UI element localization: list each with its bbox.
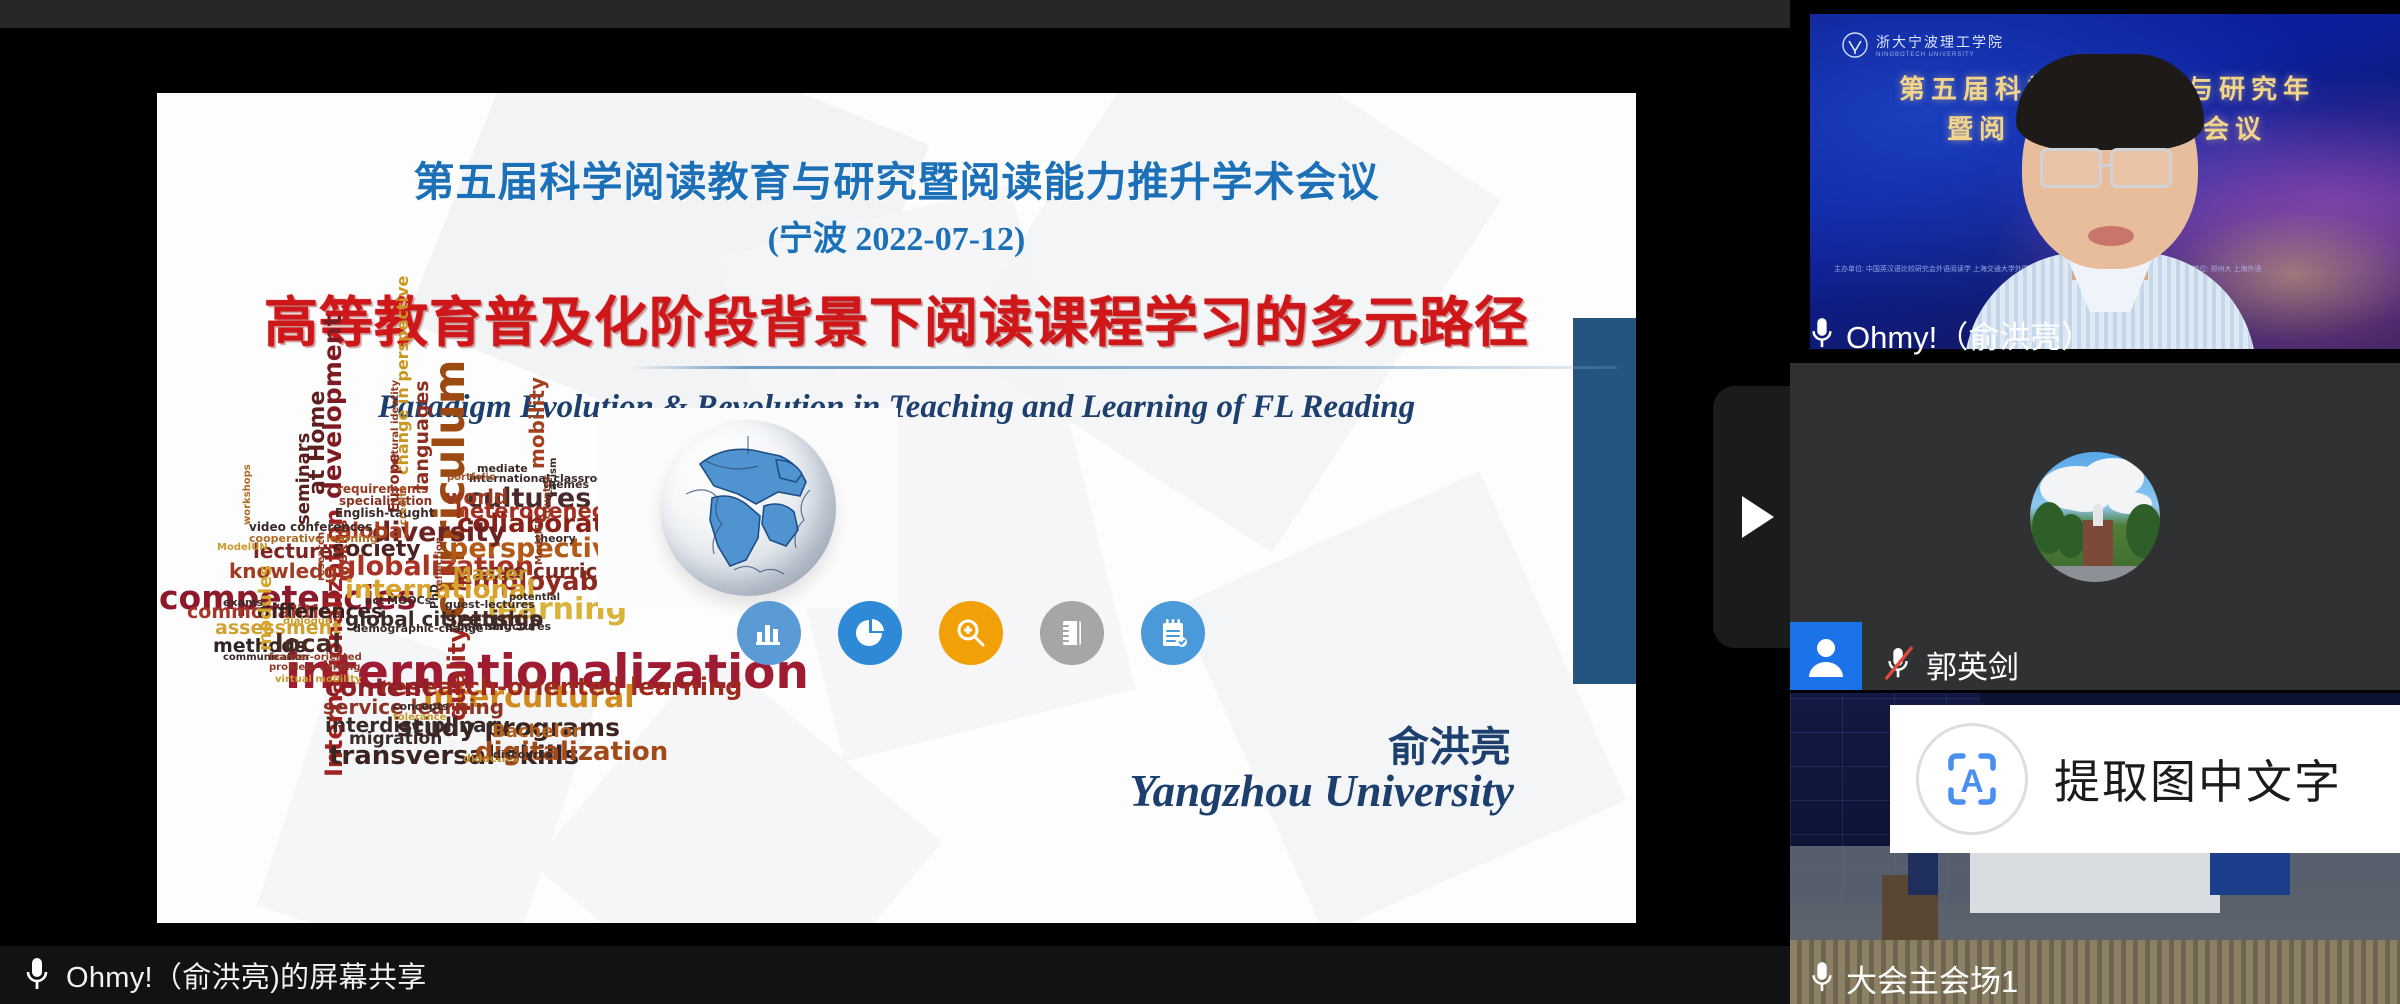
notebook-icon [1040, 601, 1104, 665]
conference-subtitle: (宁波 2022-07-12) [157, 211, 1636, 260]
word-cloud-term: ModelUN [217, 543, 268, 553]
word-cloud-term: workshops [243, 464, 253, 525]
word-cloud-term: dialogue [283, 617, 332, 627]
participant-name: 郭英剑 [1926, 642, 2019, 687]
word-cloud-term: concepts [393, 701, 449, 712]
word-cloud-term: act [365, 595, 384, 606]
word-cloud-term: tolerance [393, 713, 446, 723]
webcam-feed: 浙大宁波理工学院 NINGBOTECH UNIVERSITY 第五届科学 教学与… [1810, 14, 2400, 349]
microphone-icon [1808, 314, 1836, 354]
slide-icon-row [737, 601, 1257, 681]
word-cloud-term: potential [509, 593, 560, 603]
word-cloud-term: migration [349, 731, 442, 748]
slide-accent-bar [1573, 318, 1636, 684]
speaker-figure [1960, 54, 2260, 349]
screen-share-label: Ohmy!（俞洪亮)的屏幕共享 [66, 954, 427, 996]
word-cloud-term: research [317, 532, 327, 581]
word-cloud-term: requirements [337, 483, 428, 495]
word-cloud-term: knowledge [229, 561, 351, 581]
panel-expand-handle[interactable] [1713, 386, 1799, 648]
participant-name: 大会主会场1 [1846, 956, 2018, 1001]
ocr-extract-text-toast[interactable]: A 提取图中文字 [1890, 705, 2400, 853]
word-cloud-term: structures [487, 621, 551, 632]
svg-text:A: A [1960, 763, 1983, 799]
word-cloud-term: Bachelor [492, 723, 581, 741]
magnify-plus-icon [939, 601, 1003, 665]
avatar [2030, 452, 2160, 582]
slide-main-title: 高等教育普及化阶段背景下阅读课程学习的多元路径 [157, 278, 1636, 357]
word-cloud-term: languages [413, 380, 432, 491]
word-cloud-term: counter [543, 475, 553, 519]
microphone-muted-icon [1882, 644, 1916, 684]
ocr-scan-icon: A [1916, 723, 2028, 835]
participant-name-bar: Ohmy!（俞洪亮） [1790, 308, 2400, 360]
word-cloud-term: seminars [295, 433, 313, 525]
globe-puzzle-icon [660, 420, 836, 596]
ocr-toast-label: 提取图中文字 [2054, 746, 2342, 812]
globe-image-frame [598, 408, 898, 608]
conference-title: 第五届科学阅读教育与研究暨阅读能力推升学术会议 [157, 148, 1636, 208]
word-cloud-term: cultural identity [391, 380, 401, 471]
university-logo-text: 浙大宁波理工学院 [1876, 36, 2004, 51]
meeting-window: 第五届科学阅读教育与研究暨阅读能力推升学术会议 (宁波 2022-07-12) … [0, 0, 2400, 1004]
participant-name: Ohmy!（俞洪亮） [1846, 312, 2092, 357]
word-cloud-term: credits [399, 486, 409, 525]
title-divider-rule [629, 366, 1617, 369]
presentation-slide[interactable]: 第五届科学阅读教育与研究暨阅读能力推升学术会议 (宁波 2022-07-12) … [157, 93, 1636, 923]
participant-tile-avatar[interactable]: 郭英剑 [1790, 360, 2400, 690]
participant-name-bar: 大会主会场1 [1790, 952, 2400, 1004]
university-crest-icon [1842, 32, 1868, 58]
word-cloud-term: portfolio [447, 473, 496, 483]
word-cloud-term: cooperative learning [249, 533, 378, 544]
participant-tile-room[interactable]: A 提取图中文字 大会主会场1 [1790, 690, 2400, 1004]
screen-share-status-bar: Ohmy!（俞洪亮)的屏幕共享 [0, 946, 1790, 1004]
word-cloud-term: world [445, 487, 508, 507]
participant-tile-speaker[interactable]: 浙大宁波理工学院 NINGBOTECH UNIVERSITY 第五届科学 教学与… [1790, 0, 2400, 360]
checklist-icon [1141, 601, 1205, 665]
word-cloud-term: discourse [493, 749, 553, 760]
word-cloud-term: problem-solving [269, 663, 360, 673]
word-cloud-image: internationalizationcompetenciescurricul… [157, 413, 627, 903]
shared-screen-stage: 第五届科学阅读教育与研究暨阅读能力推升学术会议 (宁波 2022-07-12) … [0, 28, 1790, 946]
word-cloud-term: English-taught [335, 507, 434, 519]
word-cloud-term: exams [223, 597, 263, 608]
pie-chart-icon [838, 601, 902, 665]
participant-rail: 浙大宁波理工学院 NINGBOTECH UNIVERSITY 第五届科学 教学与… [1790, 0, 2400, 1004]
microphone-icon [1808, 958, 1836, 998]
play-triangle-icon [1734, 492, 1778, 542]
participant-name-bar: 郭英剑 [1790, 638, 2400, 690]
bar-chart-icon [737, 601, 801, 665]
author-name-cn: 俞洪亮 [1388, 713, 1511, 773]
word-cloud-term: virtual mobility [275, 675, 361, 685]
word-cloud-term: MOOCs [387, 595, 431, 606]
word-cloud-term: ModelEU [535, 516, 545, 565]
word-cloud-term: Master [453, 565, 527, 584]
microphone-icon [22, 955, 52, 995]
author-affiliation-en: Yangzhou University [1129, 765, 1514, 817]
word-cloud-term: reflection [435, 537, 445, 591]
word-cloud-term: mobility [527, 377, 547, 469]
